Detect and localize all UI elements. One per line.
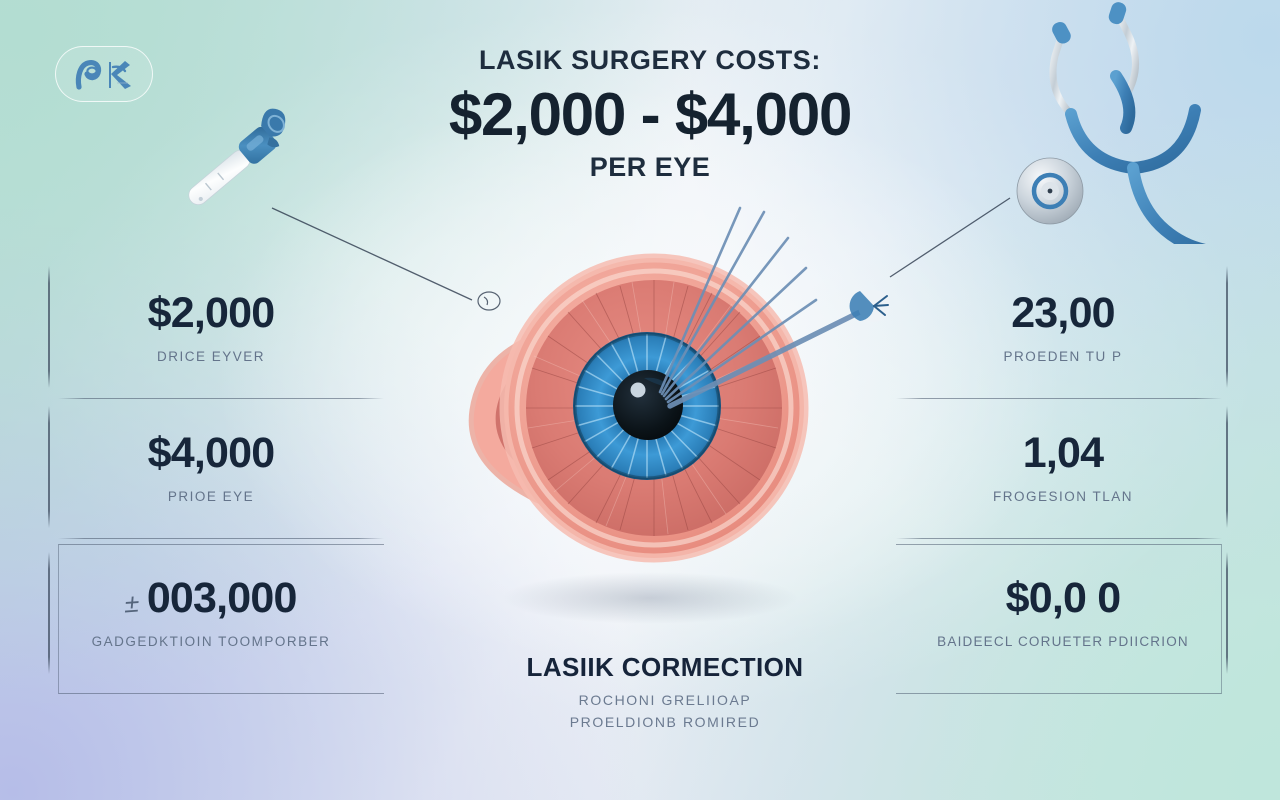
stat-label: BAIDEECL CORUETER PDIICRION xyxy=(937,634,1189,649)
stat-right-1[interactable]: 23,00 PROEDEN TU P xyxy=(890,258,1242,398)
anatomical-eye-cross-section xyxy=(392,196,892,636)
stat-value: ± 003,000 xyxy=(125,577,296,620)
stat-value: 23,00 xyxy=(1011,292,1115,335)
brand-logo xyxy=(55,46,153,102)
stethoscope-icon xyxy=(1000,0,1280,244)
headline-sub: PER EYE xyxy=(330,152,970,183)
stats-column-right: 23,00 PROEDEN TU P 1,04 FROGESION TLAN $… xyxy=(890,258,1242,688)
headline-kicker: LASIK SURGERY COSTS: xyxy=(330,46,970,76)
stat-label: GADGEDKTIOIN TOOMPORBER xyxy=(92,634,331,649)
stat-label: DRICE EYVER xyxy=(157,349,265,364)
abstract-eye-logo-icon xyxy=(73,57,135,91)
stat-right-3[interactable]: $0,0 0 BAIDEECL CORUETER PDIICRION xyxy=(890,538,1242,688)
stat-value: 1,04 xyxy=(1023,432,1104,475)
caption-line-1: ROCHONI GRELIIOAP xyxy=(430,692,900,708)
stat-left-2[interactable]: $4,000 PRIOE EYE xyxy=(38,398,390,538)
headline-price: $2,000 - $4,000 xyxy=(330,80,970,151)
stat-label: PROEDEN TU P xyxy=(1003,349,1122,364)
stat-value: $4,000 xyxy=(148,432,275,475)
caption-title: LASIIK CORMECTION xyxy=(430,652,900,683)
laser-emitter-marker xyxy=(850,290,890,322)
bottom-caption: LASIIK CORMECTION ROCHONI GRELIIOAP PROE… xyxy=(430,652,900,730)
infographic-canvas: LASIK SURGERY COSTS: $2,000 - $4,000 PER… xyxy=(0,0,1280,800)
plus-minus-icon: ± xyxy=(124,590,140,617)
stat-label: PRIOE EYE xyxy=(168,489,254,504)
stat-right-2[interactable]: 1,04 FROGESION TLAN xyxy=(890,398,1242,538)
stat-left-3[interactable]: ± 003,000 GADGEDKTIOIN TOOMPORBER xyxy=(38,538,390,688)
stat-value: $0,0 0 xyxy=(1006,577,1121,620)
stats-column-left: $2,000 DRICE EYVER $4,000 PRIOE EYE ± 00… xyxy=(38,258,390,688)
stat-value: $2,000 xyxy=(148,292,275,335)
syringe-icon xyxy=(160,100,310,230)
stat-label: FROGESION TLAN xyxy=(993,489,1133,504)
stat-left-1[interactable]: $2,000 DRICE EYVER xyxy=(38,258,390,398)
headline-block: LASIK SURGERY COSTS: $2,000 - $4,000 PER… xyxy=(330,46,970,183)
caption-line-2: PROELDIONB ROMIRED xyxy=(430,714,900,730)
